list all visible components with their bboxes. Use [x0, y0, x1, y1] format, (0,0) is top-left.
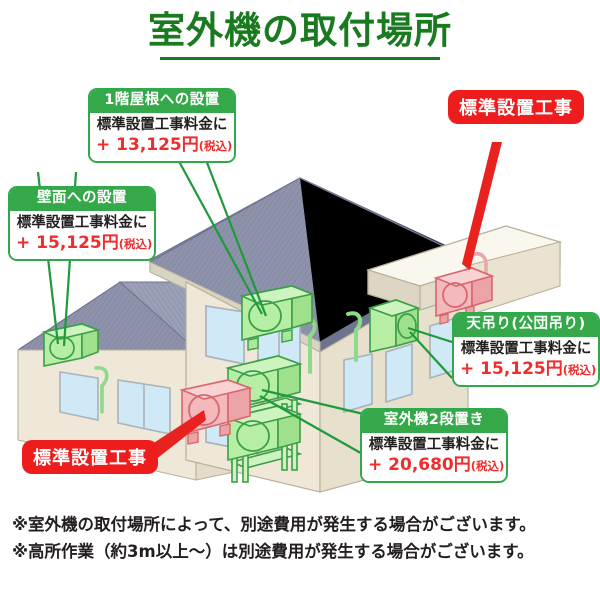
callout-roof-1f-line1: 標準設置工事料金に: [96, 116, 228, 134]
callout-ceiling-hang-price-value: + 15,125円: [460, 359, 563, 379]
callout-roof-1f[interactable]: 1階屋根への設置 標準設置工事料金に + 13,125円(税込): [88, 88, 236, 163]
callout-wall-header: 壁面への設置: [10, 188, 154, 211]
footer-note-1: ※室外機の取付場所によって、別途費用が発生する場合がございます。: [12, 512, 592, 539]
callout-wall-body: 標準設置工事料金に + 15,125円(税込): [10, 211, 154, 259]
callout-roof-1f-price-value: + 13,125円: [96, 135, 199, 155]
callout-ceiling-hang-body: 標準設置工事料金に + 15,125円(税込): [454, 337, 598, 385]
infographic-root: 室外機の取付場所: [0, 0, 600, 600]
badge-standard-install-ground[interactable]: 標準設置工事: [22, 440, 158, 474]
callout-two-tier-price: + 20,680円(税込): [368, 454, 500, 476]
callout-ceiling-hang[interactable]: 天吊り(公団吊り) 標準設置工事料金に + 15,125円(税込): [452, 312, 600, 387]
callout-two-tier-header: 室外機2段置き: [362, 410, 506, 433]
badge-standard-install-balcony[interactable]: 標準設置工事: [448, 90, 584, 124]
callout-wall[interactable]: 壁面への設置 標準設置工事料金に + 15,125円(税込): [8, 186, 156, 261]
footer-note-2: ※高所作業（約3m以上～）は別途費用が発生する場合がございます。: [12, 539, 592, 566]
callout-wall-tax: (税込): [119, 237, 153, 251]
callout-roof-1f-header: 1階屋根への設置: [90, 90, 234, 113]
callout-two-tier-body: 標準設置工事料金に + 20,680円(税込): [362, 433, 506, 481]
callout-ceiling-hang-tax: (税込): [563, 363, 597, 377]
callout-ceiling-hang-header: 天吊り(公団吊り): [454, 314, 598, 337]
page-title: 室外機の取付場所: [0, 10, 600, 53]
callout-roof-1f-body: 標準設置工事料金に + 13,125円(税込): [90, 113, 234, 161]
callout-roof-1f-price: + 13,125円(税込): [96, 134, 228, 156]
callout-wall-price-value: + 15,125円: [16, 233, 119, 253]
callout-two-tier[interactable]: 室外機2段置き 標準設置工事料金に + 20,680円(税込): [360, 408, 508, 483]
callout-ceiling-hang-price: + 15,125円(税込): [460, 358, 592, 380]
callout-ceiling-hang-line1: 標準設置工事料金に: [460, 340, 592, 358]
footer-notes: ※室外機の取付場所によって、別途費用が発生する場合がございます。 ※高所作業（約…: [12, 512, 592, 565]
callout-wall-line1: 標準設置工事料金に: [16, 214, 148, 232]
callout-roof-1f-tax: (税込): [199, 139, 233, 153]
callout-two-tier-tax: (税込): [471, 459, 505, 473]
callout-two-tier-line1: 標準設置工事料金に: [368, 436, 500, 454]
badge-standard-install-ground-label: 標準設置工事: [33, 444, 147, 470]
badge-standard-install-balcony-label: 標準設置工事: [459, 94, 573, 120]
callout-two-tier-price-value: + 20,680円: [368, 455, 471, 475]
callout-wall-price: + 15,125円(税込): [16, 232, 148, 254]
